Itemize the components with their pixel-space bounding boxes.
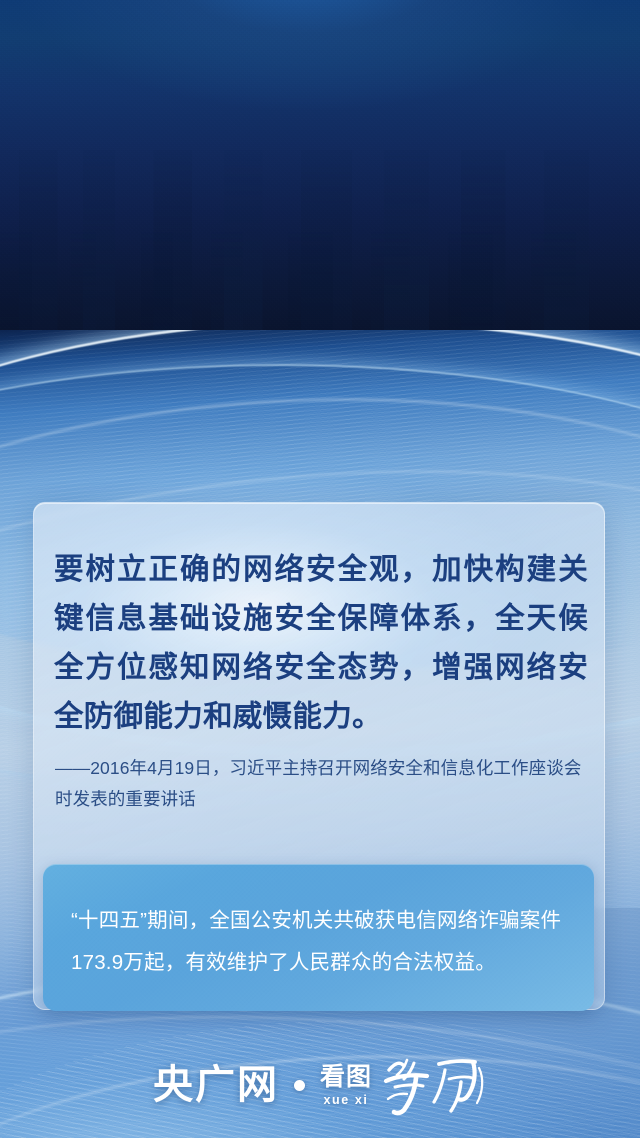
quote-body-text: 要树立正确的网络安全观，加快构建关键信息基础设施安全保障体系，全天候全方位感知网… [54, 545, 588, 741]
brand-logo-cnr[interactable]: 央广网 [153, 1065, 279, 1105]
column-label-pinyin: xue xi [323, 1094, 368, 1107]
fact-card: “十四五”期间，全国公安机关共破获电信网络诈骗案件173.9万起，有效维护了人民… [43, 864, 594, 1011]
separator-dot-icon [294, 1080, 305, 1091]
quote-card: 要树立正确的网络安全观，加快构建关键信息基础设施安全保障体系，全天候全方位感知网… [33, 502, 605, 1010]
poster-root: 要树立正确的网络安全观，加快构建关键信息基础设施安全保障体系，全天候全方位感知网… [0, 0, 640, 1138]
column-label-group[interactable]: 看图 xue xi [320, 1064, 372, 1107]
quote-source-attribution: ——2016年4月19日，习近平主持召开网络安全和信息化工作座谈会时发表的重要讲… [55, 753, 589, 815]
fact-card-text: “十四五”期间，全国公安机关共破获电信网络诈骗案件173.9万起，有效维护了人民… [71, 900, 569, 984]
footer-logo-bar: 央广网 看图 xue xi [0, 1020, 640, 1138]
column-label-cn: 看图 [320, 1064, 372, 1089]
logo-row: 央广网 看图 xue xi [0, 1054, 640, 1116]
xuexi-brush-calligraphy-icon [383, 1054, 487, 1116]
